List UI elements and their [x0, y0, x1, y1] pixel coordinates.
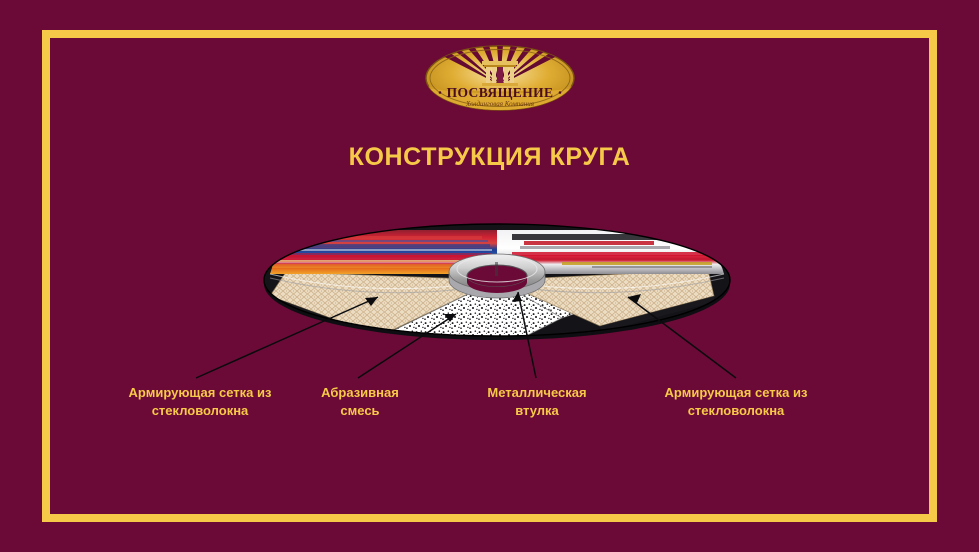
- callout-line-2: втулка: [466, 402, 608, 420]
- callout-abrasive-mixture: Абразивная смесь: [302, 384, 418, 420]
- callout-line-1: Металлическая: [466, 384, 608, 402]
- callout-line-2: стекловолокна: [104, 402, 296, 420]
- disc-diagram: [262, 222, 732, 347]
- company-logo: ПОСВЯЩЕНИЕ Холдинговая Компания: [425, 45, 575, 111]
- logo-main-text: ПОСВЯЩЕНИЕ: [447, 85, 554, 100]
- logo-sub-text: Холдинговая Компания: [465, 100, 534, 108]
- callout-metal-bushing: Металлическая втулка: [466, 384, 608, 420]
- callout-line-1: Абразивная: [302, 384, 418, 402]
- callout-reinforcing-mesh-left: Армирующая сетка из стекловолокна: [104, 384, 296, 420]
- callout-line-2: смесь: [302, 402, 418, 420]
- disc-svg: [262, 222, 732, 347]
- callout-line-2: стекловолокна: [640, 402, 832, 420]
- slide-canvas: ПОСВЯЩЕНИЕ Холдинговая Компания КОНСТРУК…: [0, 0, 979, 552]
- callout-line-1: Армирующая сетка из: [640, 384, 832, 402]
- callout-line-1: Армирующая сетка из: [104, 384, 296, 402]
- page-title: КОНСТРУКЦИЯ КРУГА: [0, 143, 979, 172]
- logo-svg: ПОСВЯЩЕНИЕ Холдинговая Компания: [425, 45, 575, 111]
- temple-glyph: [482, 61, 518, 86]
- metal-bushing: [449, 254, 545, 298]
- callout-reinforcing-mesh-right: Армирующая сетка из стекловолокна: [640, 384, 832, 420]
